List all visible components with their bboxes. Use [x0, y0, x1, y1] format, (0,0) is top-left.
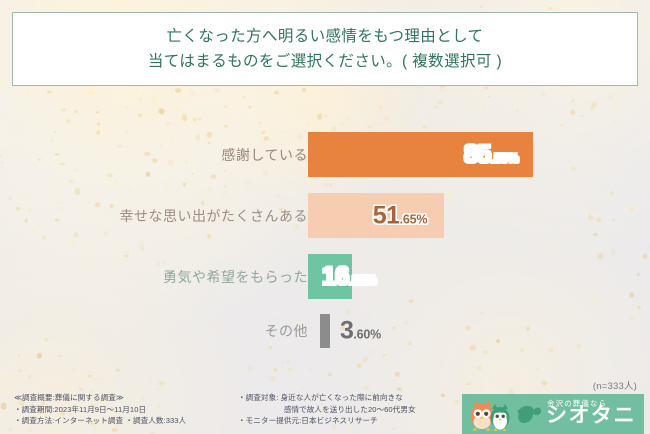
bar-value-label: 85.59%: [464, 142, 519, 167]
bar-chart: 感謝している85.59%幸せな思い出がたくさんある51.65%勇気や希望をもらっ…: [0, 96, 650, 364]
bar-value-decimal: .59%: [491, 152, 519, 165]
chart-row: 感謝している85.59%: [0, 132, 650, 177]
header-box: 亡くなった方へ明るい感情をもつ理由として 当てはまるものをご選択ください。( 複…: [12, 12, 638, 86]
bar-category-label: 幸せな思い出がたくさんある: [120, 206, 309, 226]
logo-company-name: シオタニ: [546, 405, 636, 426]
bar-category-label: 勇気や希望をもらった: [163, 267, 308, 287]
bar-value-integer: 3: [340, 319, 353, 344]
page-title: 亡くなった方へ明るい感情をもつ理由として 当てはまるものをご選択ください。( 複…: [148, 24, 502, 74]
logo-leaf-mark-icon: [516, 403, 544, 427]
logo-text-block: 金沢の葬儀なら シオタニ: [516, 394, 644, 434]
chart-row: その他3.60%: [0, 314, 650, 348]
bar-value-integer: 16: [322, 264, 349, 289]
company-logo[interactable]: 金沢の葬儀なら シオタニ: [462, 394, 644, 434]
chart-row: 勇気や希望をもらった16.82%: [0, 254, 650, 299]
bar-category-label: 感謝している: [221, 145, 308, 165]
chart-row: 幸せな思い出がたくさんある51.65%: [0, 193, 650, 238]
survey-overview-text: ≪調査概要:葬儀に関する調査≫ ・調査期間:2023年11月9日〜11月10日 …: [14, 392, 186, 427]
bar-value-integer: 51: [373, 203, 400, 228]
bar-value-label: 51.65%: [373, 203, 428, 228]
infographic-poster: 亡くなった方へ明るい感情をもつ理由として 当てはまるものをご選択ください。( 複…: [0, 0, 650, 434]
owl-mascots-icon: [462, 394, 516, 434]
bar-value-decimal: .82%: [349, 274, 377, 287]
bar-value-decimal: .65%: [400, 213, 428, 226]
bar-value-decimal: .60%: [353, 329, 381, 342]
bar-value-integer: 85: [464, 142, 491, 167]
bar-value-label: 3.60%: [340, 319, 381, 344]
bar-category-label: その他: [265, 321, 309, 341]
survey-target-text: ・調査対象: 身近な人が亡くなった際に前向きな 感情で故人を送り出した20〜60…: [238, 392, 416, 427]
bar-value-label: 16.82%: [322, 264, 377, 289]
bar-4: [320, 314, 330, 348]
